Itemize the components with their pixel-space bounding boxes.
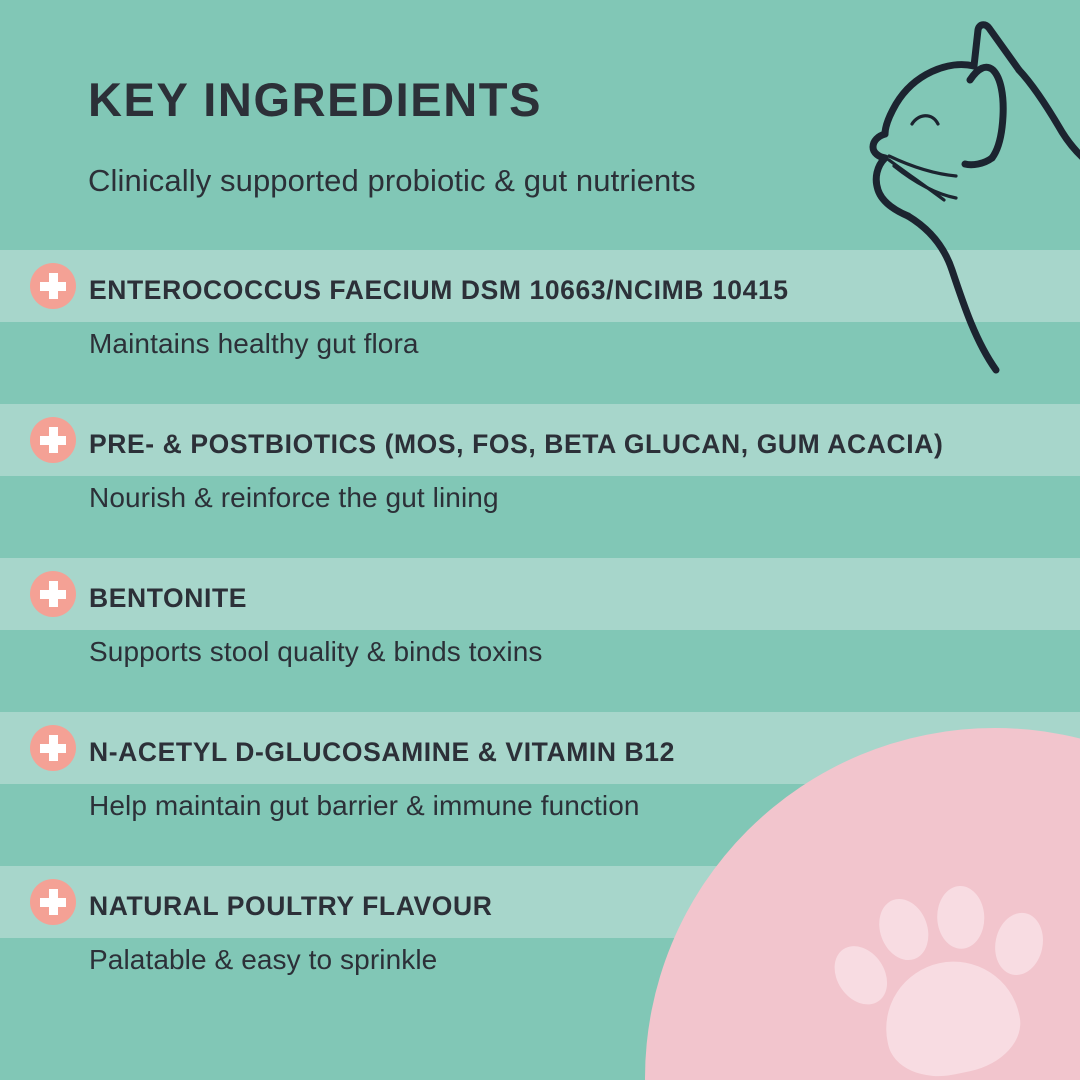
ingredient-name: NATURAL POULTRY FLAVOUR <box>89 891 492 922</box>
cross-horizontal-bar <box>40 590 66 599</box>
cross-horizontal-bar <box>40 282 66 291</box>
header: KEY INGREDIENTS Clinically supported pro… <box>0 0 1080 250</box>
cross-horizontal-bar <box>40 436 66 445</box>
ingredient-name: PRE- & POSTBIOTICS (MOS, FOS, BETA GLUCA… <box>89 429 943 460</box>
page-subtitle: Clinically supported probiotic & gut nut… <box>88 163 696 199</box>
ingredient-description: Palatable & easy to sprinkle <box>89 944 437 976</box>
infographic-canvas: KEY INGREDIENTS Clinically supported pro… <box>0 0 1080 1080</box>
cross-horizontal-bar <box>40 898 66 907</box>
ingredient-name: N-ACETYL D-GLUCOSAMINE & VITAMIN B12 <box>89 737 675 768</box>
ingredient-description: Nourish & reinforce the gut lining <box>89 482 499 514</box>
ingredient-row: PRE- & POSTBIOTICS (MOS, FOS, BETA GLUCA… <box>0 404 1080 558</box>
cross-horizontal-bar <box>40 744 66 753</box>
plus-cross-icon <box>30 725 76 771</box>
plus-cross-icon <box>30 879 76 925</box>
ingredient-description: Help maintain gut barrier & immune funct… <box>89 790 640 822</box>
ingredient-row: BENTONITE Supports stool quality & binds… <box>0 558 1080 712</box>
ingredient-name: ENTEROCOCCUS FAECIUM DSM 10663/NCIMB 104… <box>89 275 789 306</box>
page-title: KEY INGREDIENTS <box>88 72 542 127</box>
plus-cross-icon <box>30 571 76 617</box>
ingredient-name: BENTONITE <box>89 583 247 614</box>
ingredient-row: ENTEROCOCCUS FAECIUM DSM 10663/NCIMB 104… <box>0 250 1080 404</box>
plus-cross-icon <box>30 417 76 463</box>
ingredient-row: NATURAL POULTRY FLAVOUR Palatable & easy… <box>0 866 1080 1020</box>
ingredient-description: Maintains healthy gut flora <box>89 328 419 360</box>
ingredient-description: Supports stool quality & binds toxins <box>89 636 543 668</box>
plus-cross-icon <box>30 263 76 309</box>
ingredient-row: N-ACETYL D-GLUCOSAMINE & VITAMIN B12 Hel… <box>0 712 1080 866</box>
